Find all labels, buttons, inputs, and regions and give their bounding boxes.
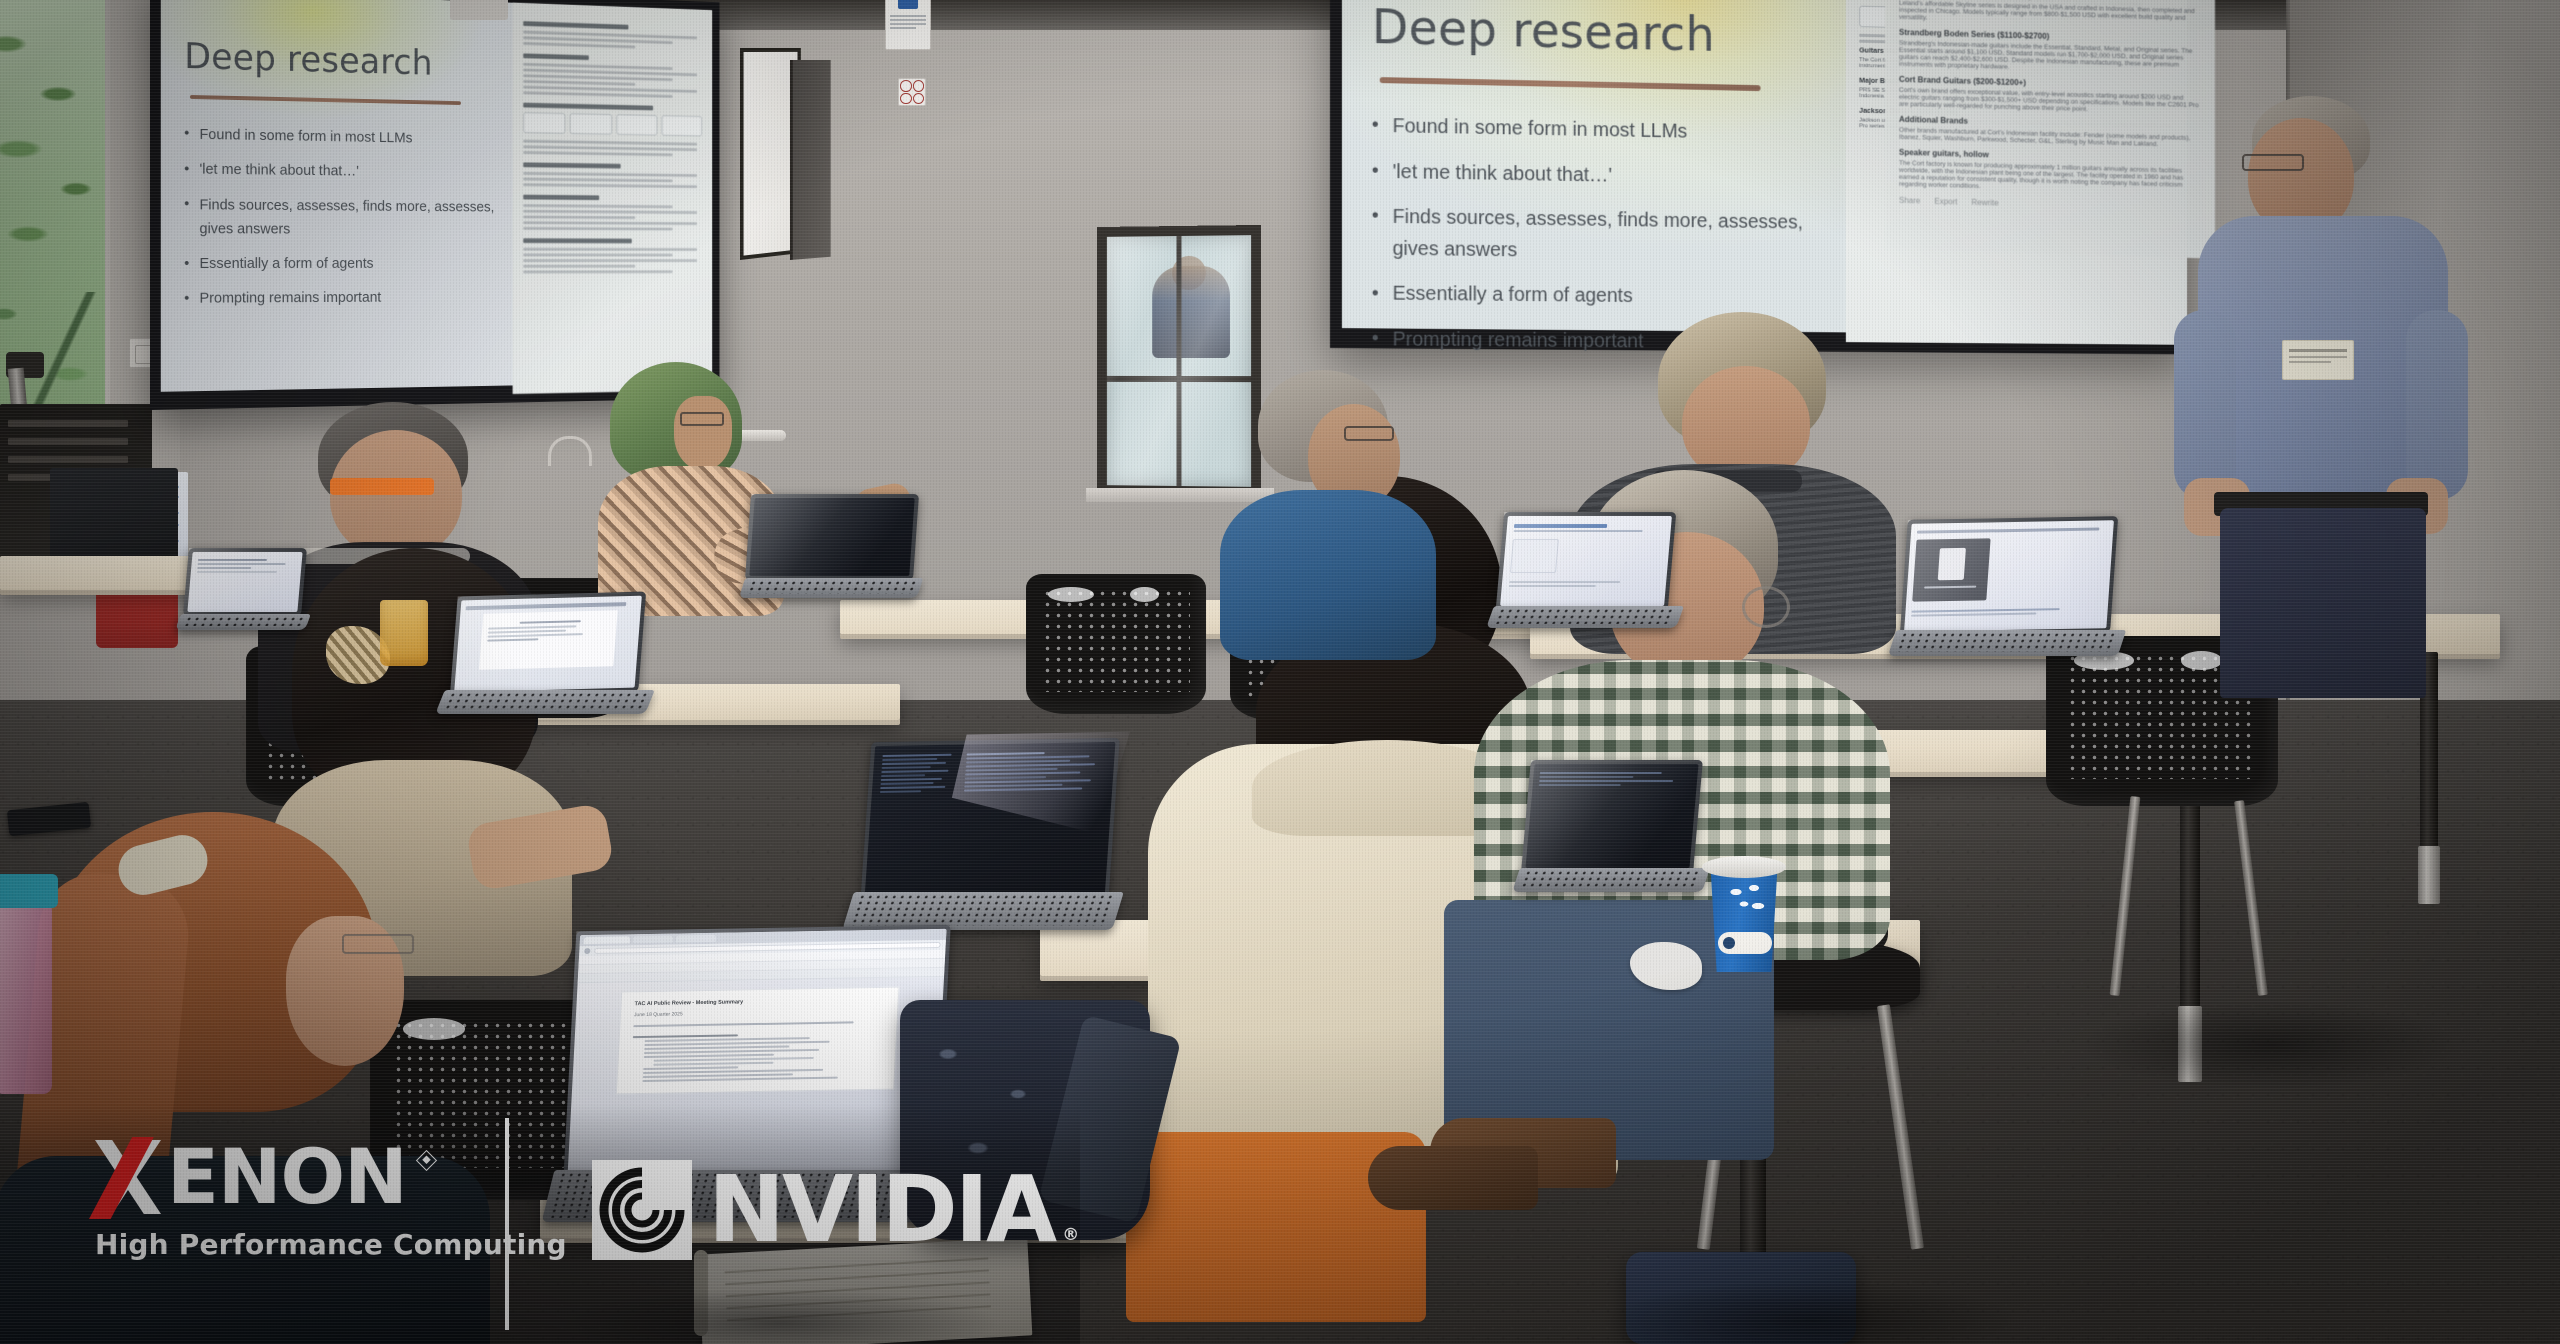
presenter-arm-right — [2406, 310, 2468, 500]
slide-rule-left — [190, 95, 461, 105]
slide-rule-right — [1380, 77, 1761, 91]
shoe — [1368, 1146, 1538, 1210]
cup-label — [1718, 932, 1772, 954]
glasses-icon — [1742, 586, 1790, 628]
water-bottle[interactable] — [0, 904, 52, 1094]
person-attendee-blue-tee — [1212, 370, 1442, 640]
steam-graphic-icon — [1724, 882, 1770, 928]
slide-bullet: Found in some form in most LLMs — [184, 123, 504, 152]
slide-bullet: Finds sources, assesses, finds more, ass… — [184, 193, 504, 242]
attendee-face — [674, 396, 732, 470]
doc-title: TAC AI Public Review - Meeting Summary — [634, 997, 885, 1007]
glasses-icon — [680, 412, 724, 426]
laptop-screen — [1525, 764, 1698, 868]
laptop-behind-hoodie[interactable] — [1516, 760, 1706, 902]
export-button[interactable]: Export — [1934, 197, 1957, 207]
slide-title-right: Deep research — [1372, 0, 1827, 65]
no-food-icon — [913, 80, 925, 92]
doc-section-body: Leland's affordable Skyline series is de… — [1899, 0, 2201, 29]
doc-section-body: The Cort factory is known for producing … — [1899, 160, 2201, 196]
share-button[interactable]: Share — [1899, 196, 1920, 206]
rewrite-button[interactable]: Rewrite — [1971, 198, 1998, 208]
projected-document-left — [513, 3, 712, 394]
slide-bullet: Found in some form in most LLMs — [1372, 111, 1827, 151]
juice-glass[interactable] — [380, 600, 428, 666]
laptop-screen — [1904, 520, 2114, 632]
laptop-screen — [749, 498, 914, 576]
glasses-icon — [342, 934, 414, 954]
safety-badge-icon — [898, 0, 918, 9]
laptop-right-dialog[interactable] — [1892, 518, 2122, 668]
safety-sign — [885, 0, 931, 50]
glasses-icon — [1344, 426, 1394, 441]
person-presenter — [2190, 96, 2470, 656]
slide-bullet: Prompting remains important — [184, 286, 504, 311]
slide-bullet: Essentially a form of agents — [184, 252, 504, 276]
slide-title-left: Deep research — [184, 36, 504, 85]
no-phone-icon — [913, 93, 925, 105]
prohibition-sign — [898, 78, 926, 106]
coffee-cup[interactable] — [1702, 856, 1786, 972]
slide-bullet: Essentially a form of agents — [1372, 279, 1827, 315]
slide-bullet: 'let me think about that…' — [184, 158, 504, 186]
logo-scrim — [0, 1104, 1080, 1344]
orange-glasses-icon — [330, 478, 434, 495]
no-pets-icon — [900, 93, 912, 105]
table-foot — [2418, 846, 2440, 904]
laptop-center-dark[interactable] — [742, 494, 920, 606]
glasses-icon — [2242, 154, 2304, 171]
laptop-rear-left[interactable] — [178, 548, 308, 642]
classroom-scene: Deep research Found in some form in most… — [0, 0, 2560, 1344]
laptop-screen — [1500, 516, 1672, 606]
slide-bullet: 'let me think about that…' — [1372, 156, 1827, 195]
laptop-screen — [865, 742, 1116, 898]
laptop-rear-right[interactable] — [1490, 512, 1680, 640]
presenter-trousers — [2220, 508, 2426, 698]
doc-section-body: Cort's own brand offers exceptional valu… — [1899, 87, 2201, 116]
laptop-dark-terminal[interactable] — [848, 740, 1118, 940]
doc-date: June 18 Quarter 2025 — [634, 1008, 885, 1018]
projector-housing — [450, 0, 508, 20]
projected-document-column: Chapman's base models are manufactured i… — [1885, 0, 2215, 259]
slide-bullet: Finds sources, assesses, finds more, ass… — [1372, 202, 1827, 270]
blue-tshirt — [1220, 490, 1436, 660]
doc-section-body: Strandberg's Indonesian-made guitars inc… — [1899, 40, 2201, 76]
laptop-screen — [187, 552, 302, 612]
name-badge — [2282, 340, 2354, 380]
cup-rim — [1702, 856, 1786, 878]
laptop-mid-left[interactable] — [440, 594, 650, 724]
no-smoking-icon — [900, 80, 912, 92]
projector-screen-left: Deep research Found in some form in most… — [150, 0, 720, 410]
bottle-cap[interactable] — [0, 874, 58, 908]
presenter-arm-left — [2174, 310, 2236, 500]
laptop-screen — [454, 596, 642, 693]
screen-left-surface: Deep research Found in some form in most… — [161, 0, 712, 392]
wall-speaker-panel — [790, 60, 831, 260]
wall-hook — [548, 436, 592, 466]
